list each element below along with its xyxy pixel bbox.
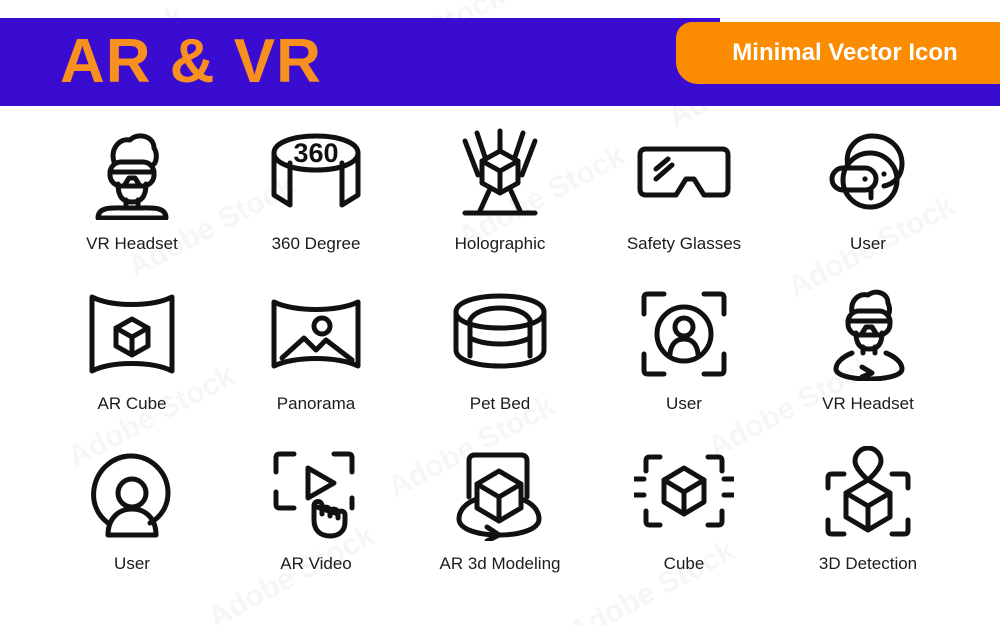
icon-cell[interactable]: Safety Glasses bbox=[592, 120, 776, 280]
icon-cell[interactable]: AR 3d Modeling bbox=[408, 440, 592, 600]
user-circle-icon bbox=[72, 446, 192, 542]
vr-headset-rotate-icon bbox=[808, 286, 928, 382]
icon-label: AR Cube bbox=[98, 394, 167, 414]
icon-cell[interactable]: Cube bbox=[592, 440, 776, 600]
svg-text:360: 360 bbox=[293, 138, 338, 168]
panorama-icon bbox=[256, 286, 376, 382]
icon-grid: VR Headset 360 360 Degree bbox=[40, 120, 960, 600]
header-subtitle: Minimal Vector Icon bbox=[700, 22, 990, 84]
icon-cell[interactable]: 3D Detection bbox=[776, 440, 960, 600]
icon-label: Cube bbox=[664, 554, 705, 574]
icon-cell[interactable]: User bbox=[40, 440, 224, 600]
page-title: AR & VR bbox=[60, 24, 322, 100]
ar-cube-icon bbox=[72, 286, 192, 382]
ar-video-icon bbox=[256, 446, 376, 542]
icon-label: AR Video bbox=[280, 554, 352, 574]
icon-label: Holographic bbox=[455, 234, 546, 254]
icon-cell[interactable]: Pet Bed bbox=[408, 280, 592, 440]
icon-cell[interactable]: Holographic bbox=[408, 120, 592, 280]
cube-scan-icon bbox=[624, 446, 744, 542]
icon-label: User bbox=[850, 234, 886, 254]
icon-label: 360 Degree bbox=[272, 234, 361, 254]
icon-cell[interactable]: Panorama bbox=[224, 280, 408, 440]
icon-label: User bbox=[114, 554, 150, 574]
icon-cell[interactable]: User bbox=[776, 120, 960, 280]
holographic-icon bbox=[440, 126, 560, 222]
icon-set-page: Adobe Stock Adobe Stock Adobe Stock Adob… bbox=[0, 0, 1000, 625]
3d-detection-icon bbox=[808, 446, 928, 542]
360-degree-icon: 360 bbox=[256, 126, 376, 222]
icon-label: Pet Bed bbox=[470, 394, 531, 414]
user-scan-frame-icon bbox=[624, 286, 744, 382]
page-header: AR & VR Minimal Vector Icon bbox=[0, 18, 1000, 106]
icon-cell[interactable]: AR Cube bbox=[40, 280, 224, 440]
icon-cell[interactable]: VR Headset bbox=[40, 120, 224, 280]
icon-label: User bbox=[666, 394, 702, 414]
ar-3d-modeling-icon bbox=[440, 446, 560, 542]
icon-label: VR Headset bbox=[86, 234, 178, 254]
icon-label: AR 3d Modeling bbox=[440, 554, 561, 574]
icon-cell[interactable]: VR Headset bbox=[776, 280, 960, 440]
vr-headset-icon bbox=[72, 126, 192, 222]
user-face-headset-icon bbox=[808, 126, 928, 222]
icon-label: VR Headset bbox=[822, 394, 914, 414]
safety-glasses-icon bbox=[624, 126, 744, 222]
pet-bed-icon bbox=[440, 286, 560, 382]
icon-cell[interactable]: AR Video bbox=[224, 440, 408, 600]
icon-label: Safety Glasses bbox=[627, 234, 741, 254]
icon-label: Panorama bbox=[277, 394, 355, 414]
icon-cell[interactable]: 360 360 Degree bbox=[224, 120, 408, 280]
icon-cell[interactable]: User bbox=[592, 280, 776, 440]
icon-label: 3D Detection bbox=[819, 554, 917, 574]
